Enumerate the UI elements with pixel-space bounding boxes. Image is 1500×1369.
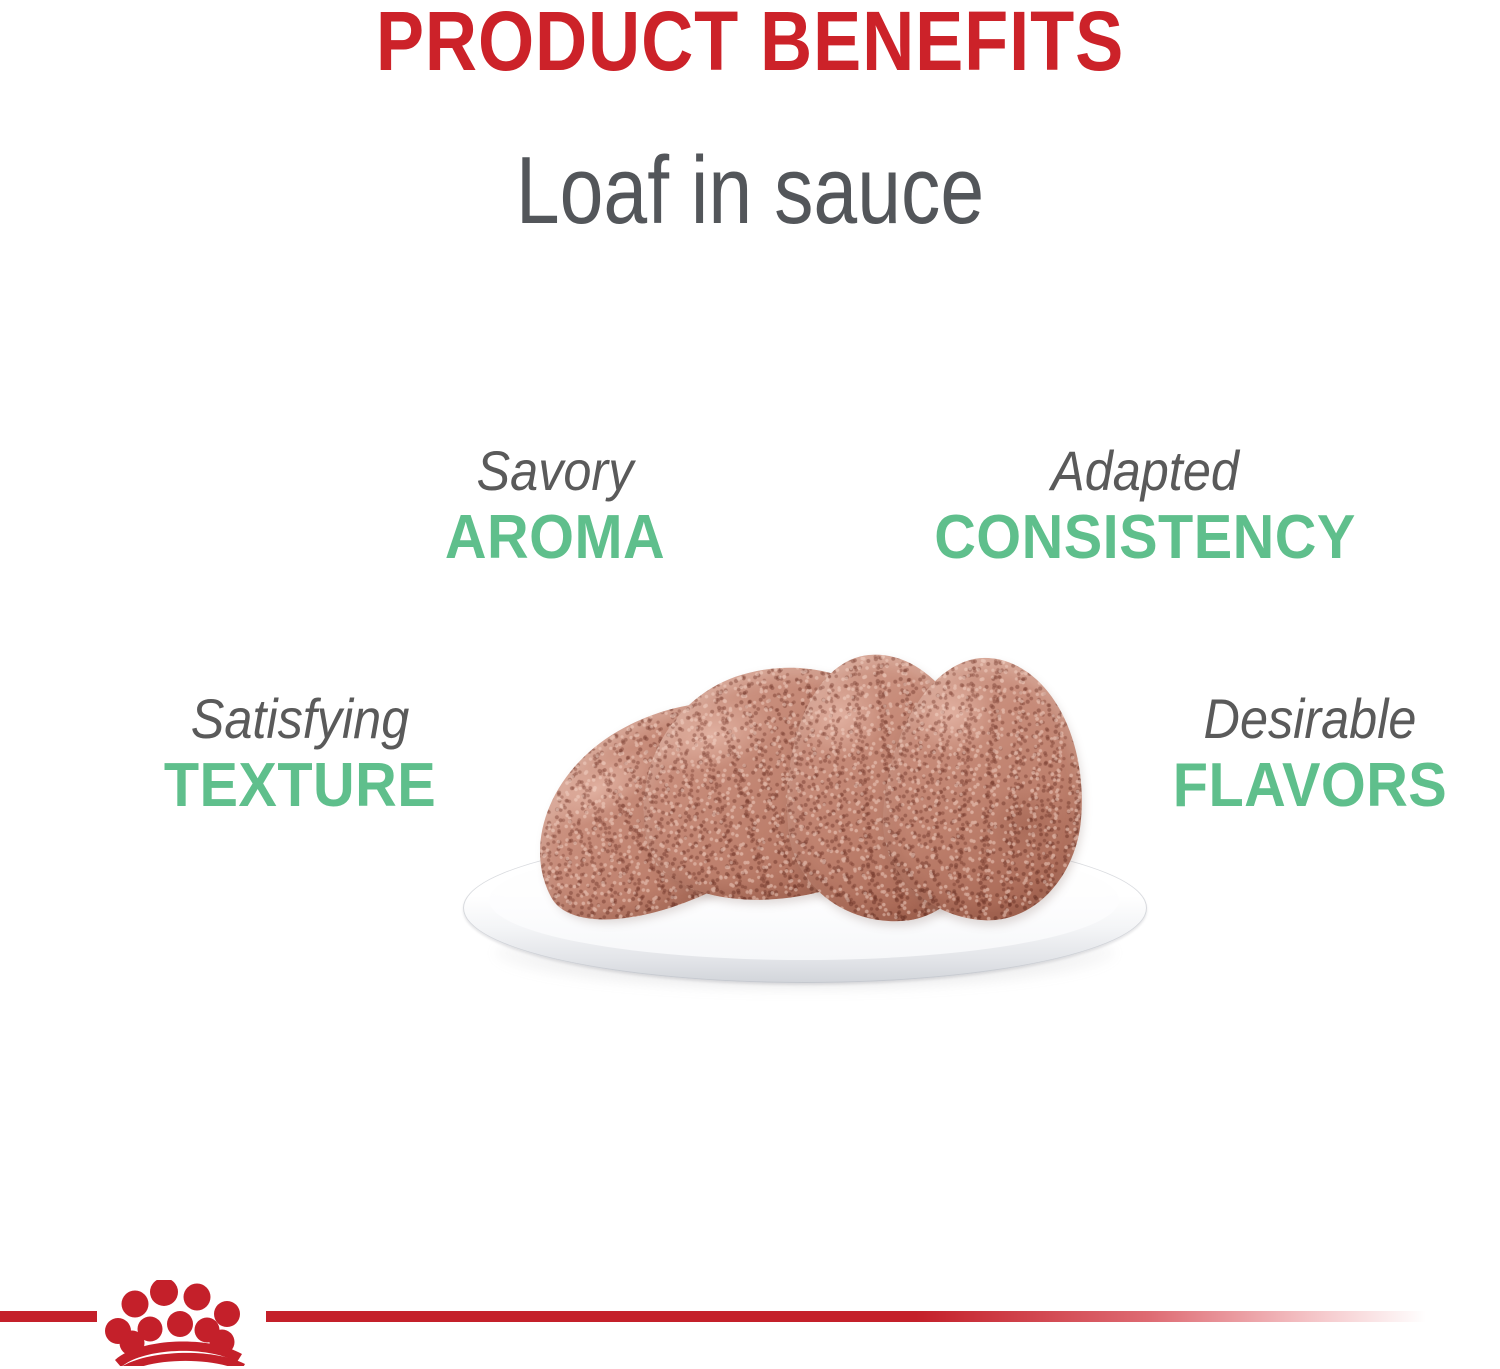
benefit-flavors-lead: Desirable [1121,688,1499,750]
benefit-flavors-key: FLAVORS [1115,750,1500,822]
benefit-flavors: Desirable FLAVORS [1100,688,1500,822]
benefit-consistency-lead: Adapted [884,440,1406,502]
benefit-aroma-lead: Savory [357,440,753,502]
benefit-texture: Satisfying TEXTURE [80,688,520,822]
benefit-texture-lead: Satisfying [102,688,498,750]
royal-canin-crown-icon [102,1280,270,1366]
page-title: PRODUCT BENEFITS [105,0,1395,86]
product-subtitle: Loaf in sauce [135,136,1365,246]
benefit-consistency: Adapted CONSISTENCY [855,440,1435,574]
product-benefits-panel: PRODUCT BENEFITS Loaf in sauce Savory AR… [0,0,1500,1369]
footer-rule-left [0,1311,97,1322]
benefit-aroma: Savory AROMA [335,440,775,574]
product-food-image [455,628,1155,1018]
loaf-slices [455,628,1155,958]
benefit-texture-key: TEXTURE [95,750,504,822]
benefit-aroma-key: AROMA [350,502,759,574]
benefit-consistency-key: CONSISTENCY [875,502,1414,574]
footer-rule-right [266,1311,1426,1322]
